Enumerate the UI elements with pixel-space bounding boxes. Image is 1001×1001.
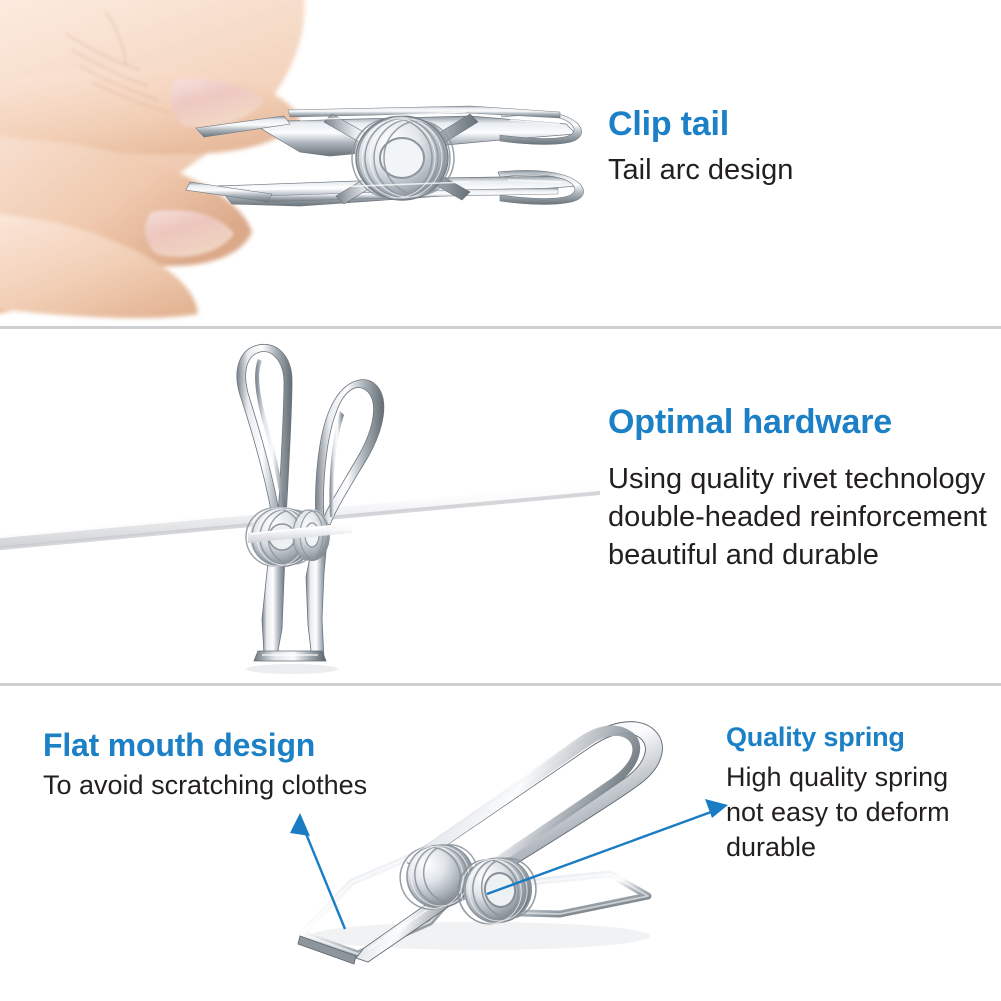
infographic-page: Clip tail Tail arc design [0,0,1001,1001]
panel-3-right-heading: Quality spring [726,721,950,754]
clip-tail-text-block: Clip tail Tail arc design [608,104,793,189]
panel-3-left-body: To avoid scratching clothes [43,768,367,802]
clip-on-clothesline-photo [0,329,620,683]
panel-1-body: Tail arc design [608,151,793,189]
arrow-to-flat-mouth [290,813,345,929]
panel-1-heading: Clip tail [608,104,793,144]
arrowhead-up-right [705,799,728,818]
flat-mouth-and-spring-panel: Flat mouth design To avoid scratching cl… [0,686,1001,1001]
arrow-to-spring [487,799,728,894]
clip-tail-panel: Clip tail Tail arc design [0,0,1001,326]
flat-mouth-callout: Flat mouth design To avoid scratching cl… [43,726,367,802]
clip-upper-wire [288,106,560,118]
clip-left-loop [237,344,292,519]
hand-holding-clip-photo [0,0,601,326]
clip-shadow [246,664,338,674]
optimal-hardware-text-block: Optimal hardware Using quality rivet tec… [608,402,987,574]
panel-3-left-heading: Flat mouth design [43,726,367,764]
panel-2-heading: Optimal hardware [608,402,987,442]
quality-spring-callout: Quality spring High quality spring not e… [726,721,950,865]
arrowhead-up-left [290,813,310,836]
clip-flat-mouth-bar [254,651,326,661]
panel-3-right-body: High quality spring not easy to deform d… [726,760,950,865]
panel-2-body: Using quality rivet technology double-he… [608,460,987,574]
wire-clip-horizontal [186,106,584,206]
optimal-hardware-panel: Optimal hardware Using quality rivet tec… [0,329,1001,683]
